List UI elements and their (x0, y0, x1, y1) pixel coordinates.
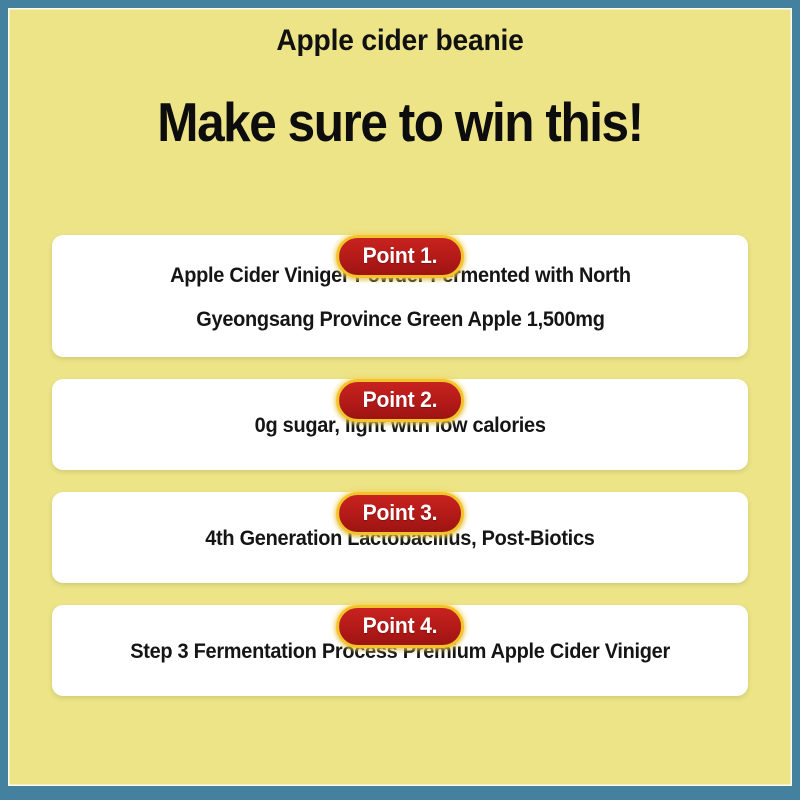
point-badge-2: Point 2. (336, 379, 464, 422)
point-card-line: Gyeongsang Province Green Apple 1,500mg (170, 298, 631, 342)
point-block-1: Point 1. Apple Cider Viniger Powder Ferm… (52, 235, 748, 357)
points-list: Point 1. Apple Cider Viniger Powder Ferm… (8, 213, 792, 696)
page-title: Make sure to win this! (47, 92, 753, 154)
poster-inner-panel: Apple cider beanie Make sure to win this… (8, 8, 792, 786)
promo-poster: Apple cider beanie Make sure to win this… (0, 0, 800, 800)
point-block-2: Point 2. 0g sugar, light with low calori… (52, 379, 748, 470)
point-block-3: Point 3. 4th Generation Lactobacillus, P… (52, 492, 748, 583)
point-badge-label-1: Point 1. (363, 243, 438, 269)
point-badge-1: Point 1. (336, 235, 464, 278)
point-block-4: Point 4. Step 3 Fermentation Process Pre… (52, 605, 748, 696)
point-badge-label-4: Point 4. (363, 613, 438, 639)
point-badge-4: Point 4. (336, 605, 464, 648)
point-badge-label-3: Point 3. (363, 500, 438, 526)
point-badge-label-2: Point 2. (363, 387, 438, 413)
page-subtitle: Apple cider beanie (32, 24, 769, 59)
point-badge-3: Point 3. (336, 492, 464, 535)
